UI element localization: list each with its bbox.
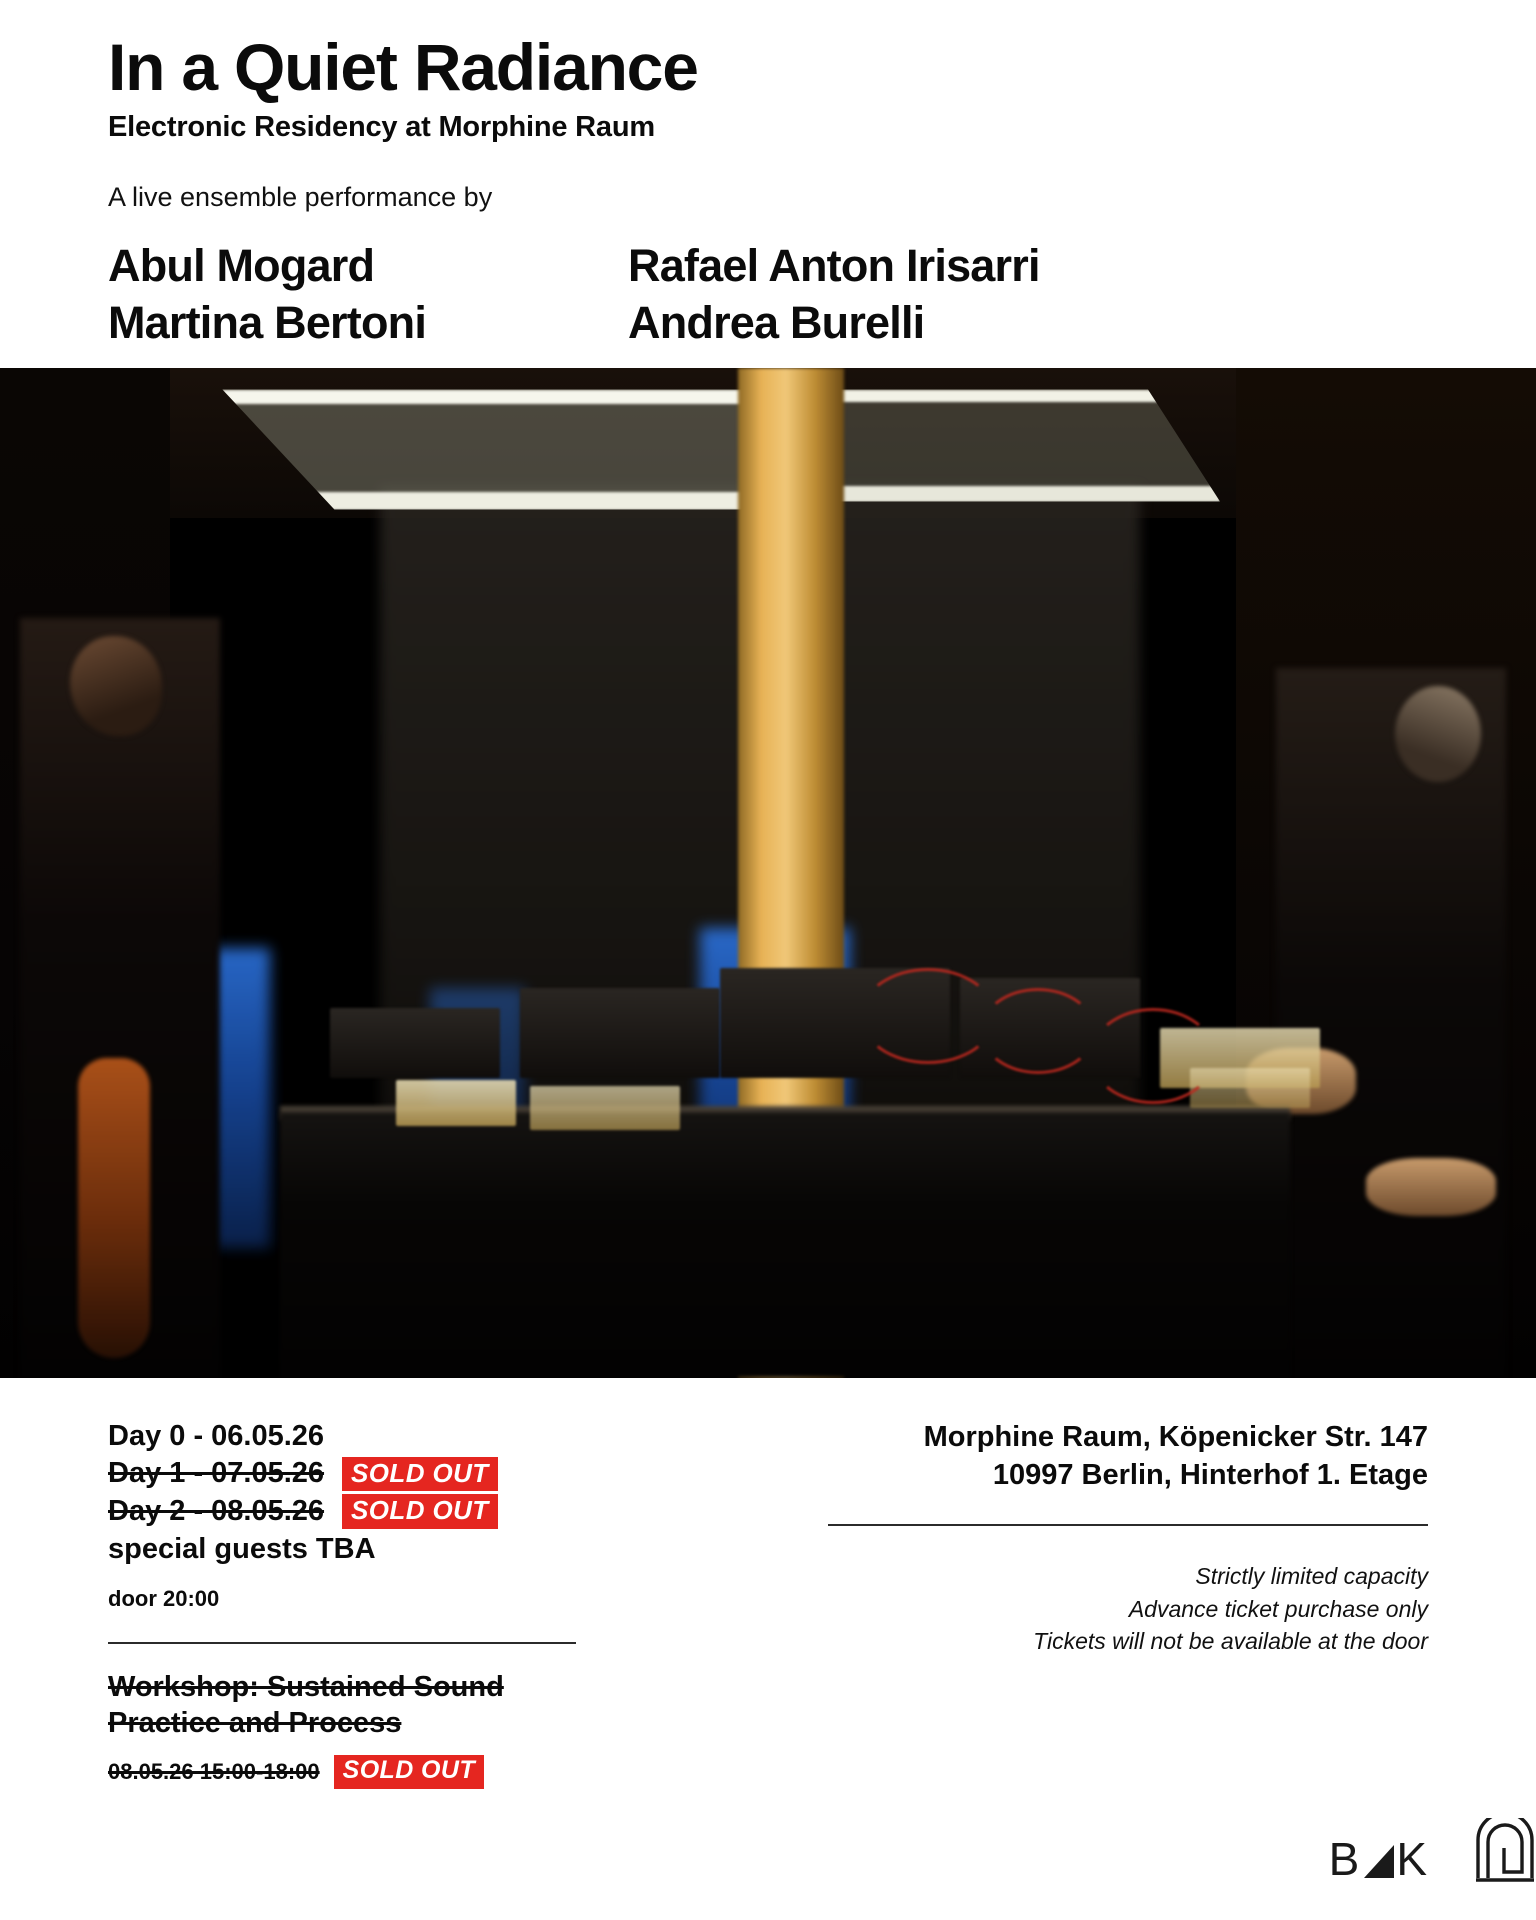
status-badge: SOLD OUT (342, 1457, 498, 1492)
schedule-row: Day 0 - 06.05.26 (108, 1418, 640, 1456)
artist-name: Andrea Burelli (628, 296, 1536, 349)
schedule-row: Day 1 - 07.05.26 SOLD OUT (108, 1455, 640, 1493)
schedule-row: Day 2 - 08.05.26 SOLD OUT (108, 1493, 640, 1531)
workshop-time-row: 08.05.26 15:00-18:00 SOLD OUT (108, 1755, 640, 1789)
photo-mixer (396, 1080, 516, 1126)
photo-performer-right-head (1395, 686, 1481, 782)
poster-header: In a Quiet Radiance Electronic Residency… (0, 0, 1536, 368)
schedule-column: Day 0 - 06.05.26 Day 1 - 07.05.26 SOLD O… (0, 1378, 640, 1920)
event-poster: In a Quiet Radiance Electronic Residency… (0, 0, 1536, 1920)
performance-photo (0, 368, 1536, 1378)
schedule-date: Day 1 - 07.05.26 (108, 1455, 324, 1493)
photo-performer-left-head (70, 636, 162, 736)
bak-logo-letter-k: K (1396, 1836, 1428, 1882)
photo-scene (0, 368, 1536, 1378)
ticket-note-line-3: Tickets will not be available at the doo… (640, 1625, 1428, 1658)
photo-equipment (520, 988, 720, 1078)
performance-label: A live ensemble performance by (108, 182, 1536, 213)
page-title: In a Quiet Radiance (108, 34, 1536, 101)
logo-row: B K (1329, 1818, 1536, 1882)
artist-name: Martina Bertoni (108, 296, 628, 349)
photo-cable (980, 988, 1096, 1074)
divider (828, 1524, 1428, 1526)
triangle-icon (1364, 1845, 1394, 1878)
photo-equipment (330, 1008, 500, 1078)
special-guests: special guests TBA (108, 1531, 376, 1569)
poster-subtitle: Electronic Residency at Morphine Raum (108, 111, 1536, 144)
venue-column: Morphine Raum, Köpenicker Str. 147 10997… (640, 1378, 1536, 1920)
workshop-title-line-2: Practice and Process (108, 1706, 640, 1741)
photo-guitar (78, 1058, 150, 1358)
morphine-arch-logo-icon (1474, 1818, 1536, 1882)
door-time: door 20:00 (108, 1586, 640, 1612)
workshop-time: 08.05.26 15:00-18:00 (108, 1759, 320, 1785)
ticket-note-line-2: Advance ticket purchase only (640, 1593, 1428, 1626)
photo-laptop (530, 1086, 680, 1130)
workshop-title: Workshop: Sustained Sound Practice and P… (108, 1670, 640, 1741)
workshop-title-line-1: Workshop: Sustained Sound (108, 1670, 640, 1705)
schedule-date: Day 2 - 08.05.26 (108, 1493, 324, 1531)
ticket-note-line-1: Strictly limited capacity (640, 1560, 1428, 1593)
photo-performer-right-hand-2 (1366, 1158, 1496, 1216)
venue-address-line-1: Morphine Raum, Köpenicker Str. 147 (640, 1418, 1428, 1456)
photo-cable (860, 968, 996, 1064)
venue-address-line-2: 10997 Berlin, Hinterhof 1. Etage (640, 1456, 1428, 1494)
status-badge: SOLD OUT (334, 1755, 484, 1789)
poster-footer: Day 0 - 06.05.26 Day 1 - 07.05.26 SOLD O… (0, 1378, 1536, 1920)
artist-list: Abul Mogard Rafael Anton Irisarri Martin… (108, 239, 1536, 349)
photo-performer-right (1276, 668, 1506, 1378)
schedule-row-guests: special guests TBA (108, 1531, 640, 1569)
artist-name: Rafael Anton Irisarri (628, 239, 1536, 292)
bak-logo: B K (1329, 1836, 1428, 1882)
bak-logo-letter-b: B (1329, 1836, 1361, 1882)
photo-cable (1090, 1008, 1216, 1104)
status-badge: SOLD OUT (342, 1494, 498, 1529)
photo-table-cloth (280, 1113, 1290, 1378)
schedule-date: Day 0 - 06.05.26 (108, 1418, 324, 1456)
artist-name: Abul Mogard (108, 239, 628, 292)
divider (108, 1642, 576, 1644)
